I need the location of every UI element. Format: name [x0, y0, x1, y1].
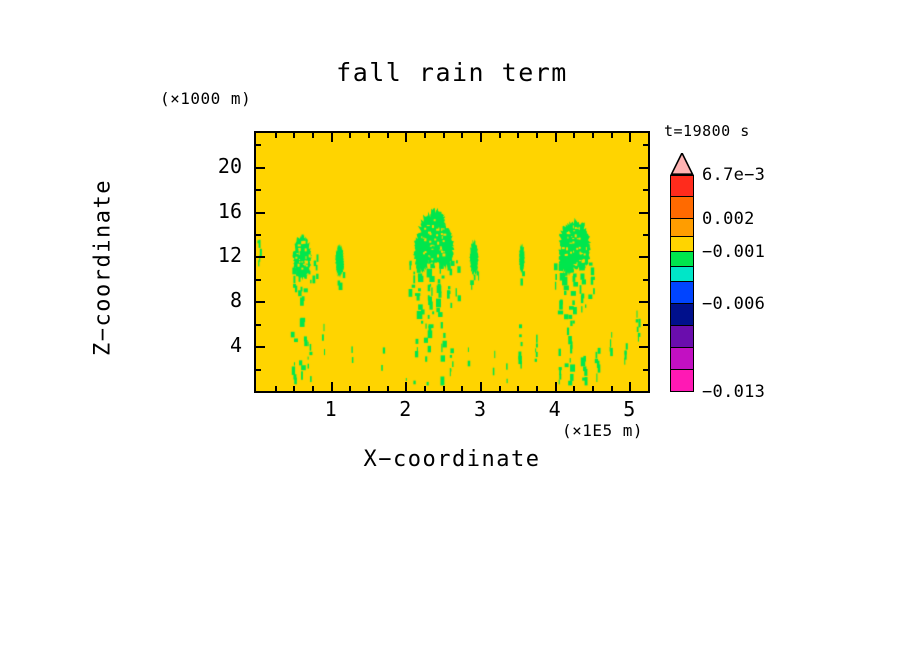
axis-tick — [643, 144, 648, 146]
axis-tick — [639, 346, 648, 348]
colorbar-band — [670, 252, 694, 267]
colorbar-tick-label: −0.006 — [702, 294, 765, 314]
colorbar-tick-label: −0.013 — [702, 382, 765, 402]
y-tick-label: 20 — [194, 154, 242, 178]
axis-tick — [643, 234, 648, 236]
x-tick-label: 2 — [385, 397, 425, 421]
axis-tick — [405, 382, 407, 391]
colorbar-band — [670, 267, 694, 282]
axis-tick — [461, 386, 463, 391]
x-tick-label: 3 — [460, 397, 500, 421]
axis-tick — [293, 386, 295, 391]
axis-tick — [405, 133, 407, 142]
axis-tick — [611, 133, 613, 138]
axis-tick — [592, 386, 594, 391]
axis-tick — [573, 133, 575, 138]
axis-tick — [639, 167, 648, 169]
axis-tick — [643, 369, 648, 371]
axis-tick — [331, 382, 333, 391]
axis-tick — [643, 324, 648, 326]
x-tick-label: 5 — [609, 397, 649, 421]
colorbar-band — [670, 348, 694, 370]
axis-tick — [387, 386, 389, 391]
axis-tick — [648, 386, 650, 391]
contour-plot-area[interactable] — [254, 131, 650, 393]
axis-tick — [555, 133, 557, 142]
y-tick-label: 8 — [194, 288, 242, 312]
colorbar-band — [670, 197, 694, 219]
axis-tick — [639, 212, 648, 214]
axis-tick — [256, 369, 261, 371]
colorbar-tick-label: −0.001 — [702, 242, 765, 262]
y-axis-title: Z−coordinate — [91, 118, 116, 418]
x-tick-label: 4 — [535, 397, 575, 421]
axis-tick — [424, 133, 426, 138]
axis-tick — [256, 256, 265, 258]
axis-tick — [499, 133, 501, 138]
y-axis-units-label: (×1000 m) — [160, 89, 251, 108]
axis-tick — [611, 386, 613, 391]
page-title: fall rain term — [0, 58, 904, 87]
axis-tick — [331, 133, 333, 142]
axis-tick — [349, 133, 351, 138]
y-tick-label: 16 — [194, 199, 242, 223]
colorbar-bands — [670, 175, 694, 392]
axis-tick — [536, 133, 538, 138]
axis-tick — [443, 386, 445, 391]
x-tick-label: 1 — [311, 397, 351, 421]
axis-tick — [256, 167, 265, 169]
colorbar-arrow-cap — [670, 153, 694, 175]
colorbar-tick-label: 6.7e−3 — [702, 165, 765, 185]
axis-tick — [629, 133, 631, 142]
colorbar-band — [670, 219, 694, 237]
colorbar-band — [670, 304, 694, 326]
axis-tick — [368, 386, 370, 391]
x-axis-units-label: (×1E5 m) — [562, 421, 643, 440]
axis-tick — [573, 386, 575, 391]
axis-tick — [349, 386, 351, 391]
y-tick-label: 12 — [194, 243, 242, 267]
x-axis-title: X−coordinate — [254, 447, 650, 472]
colorbar-band — [670, 175, 694, 197]
axis-tick — [293, 133, 295, 138]
contour-field-canvas — [256, 133, 648, 391]
axis-tick — [480, 133, 482, 142]
colorbar-band — [670, 237, 694, 252]
axis-tick — [256, 279, 261, 281]
colorbar-tick-label: 0.002 — [702, 209, 755, 229]
colorbar-band — [670, 326, 694, 348]
axis-tick — [499, 386, 501, 391]
axis-tick — [256, 144, 261, 146]
axis-tick — [517, 386, 519, 391]
axis-tick — [368, 133, 370, 138]
axis-tick — [592, 133, 594, 138]
axis-tick — [648, 133, 650, 138]
colorbar-band — [670, 370, 694, 392]
axis-tick — [461, 133, 463, 138]
axis-tick — [517, 133, 519, 138]
axis-tick — [256, 324, 261, 326]
axis-tick — [256, 346, 265, 348]
axis-tick — [643, 189, 648, 191]
axis-tick — [639, 256, 648, 258]
axis-tick — [312, 386, 314, 391]
axis-tick — [256, 234, 261, 236]
axis-tick — [643, 279, 648, 281]
axis-tick — [555, 382, 557, 391]
axis-tick — [312, 133, 314, 138]
axis-tick — [424, 386, 426, 391]
axis-tick — [480, 382, 482, 391]
axis-tick — [275, 386, 277, 391]
axis-tick — [256, 189, 261, 191]
axis-tick — [387, 133, 389, 138]
timestamp-annotation: t=19800 s — [664, 122, 750, 140]
axis-tick — [443, 133, 445, 138]
y-tick-label: 4 — [194, 333, 242, 357]
axis-tick — [256, 301, 265, 303]
axis-tick — [256, 212, 265, 214]
axis-tick — [629, 382, 631, 391]
axis-tick — [536, 386, 538, 391]
colorbar-band — [670, 282, 694, 304]
axis-tick — [639, 301, 648, 303]
axis-tick — [275, 133, 277, 138]
